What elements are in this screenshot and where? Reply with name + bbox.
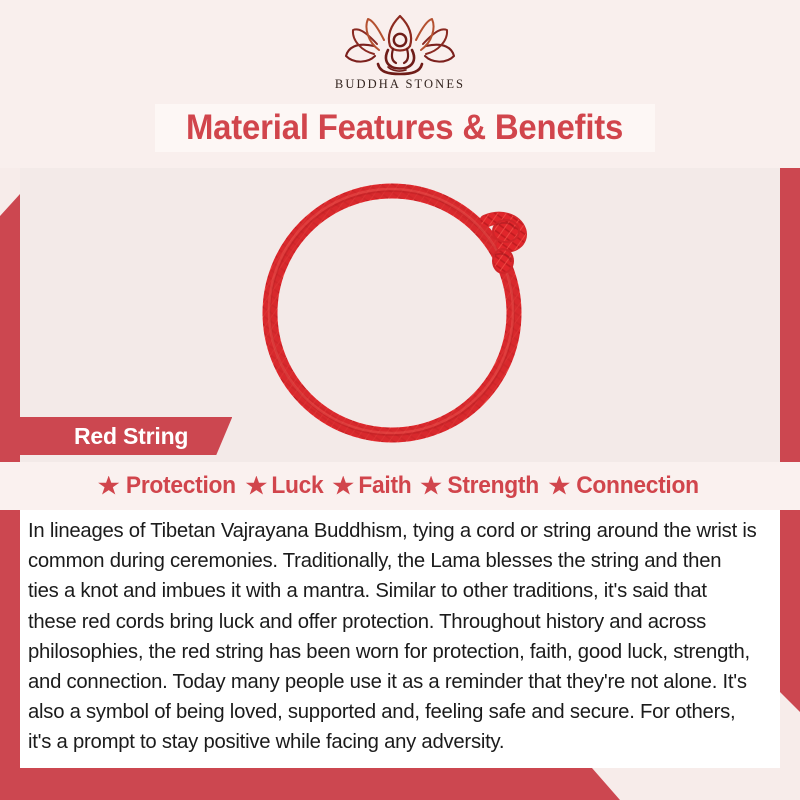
- benefit-label: Protection: [126, 472, 236, 500]
- benefit-protection: Protection: [98, 472, 239, 500]
- page-title: Material Features & Benefits: [186, 108, 623, 148]
- red-string-bracelet-image: [254, 177, 546, 445]
- benefit-connection: Connection: [548, 472, 702, 500]
- brand-logo: BUDDHA STONES: [315, 14, 485, 92]
- star-icon: [245, 476, 267, 497]
- frame-bar-bottom: [0, 768, 620, 800]
- brand-wordmark: BUDDHA STONES: [315, 77, 485, 92]
- star-icon: [332, 476, 354, 497]
- star-icon: [420, 476, 442, 497]
- benefit-label: Connection: [577, 472, 700, 500]
- description-panel: In lineages of Tibetan Vajrayana Buddhis…: [20, 510, 780, 768]
- benefit-label: Luck: [272, 472, 324, 500]
- infographic-poster: BUDDHA STONES Material Features & Benefi…: [0, 0, 800, 800]
- benefit-faith: Faith: [332, 472, 413, 500]
- benefit-label: Strength: [447, 472, 538, 500]
- poster-header: BUDDHA STONES Material Features & Benefi…: [0, 0, 800, 168]
- product-name-banner: Red String: [20, 417, 232, 455]
- product-name: Red String: [74, 423, 188, 450]
- product-image-band: [20, 160, 780, 462]
- benefit-label: Faith: [359, 472, 412, 500]
- page-title-plate: Material Features & Benefits: [155, 104, 655, 152]
- star-icon: [98, 476, 120, 497]
- lotus-meditation-figure-icon: [344, 14, 456, 76]
- benefit-strength: Strength: [420, 472, 541, 500]
- benefit-luck: Luck: [245, 472, 325, 500]
- star-icon: [548, 476, 570, 497]
- description-text: In lineages of Tibetan Vajrayana Buddhis…: [28, 516, 757, 758]
- benefits-row: Protection Luck Faith Strength Connectio…: [0, 462, 800, 510]
